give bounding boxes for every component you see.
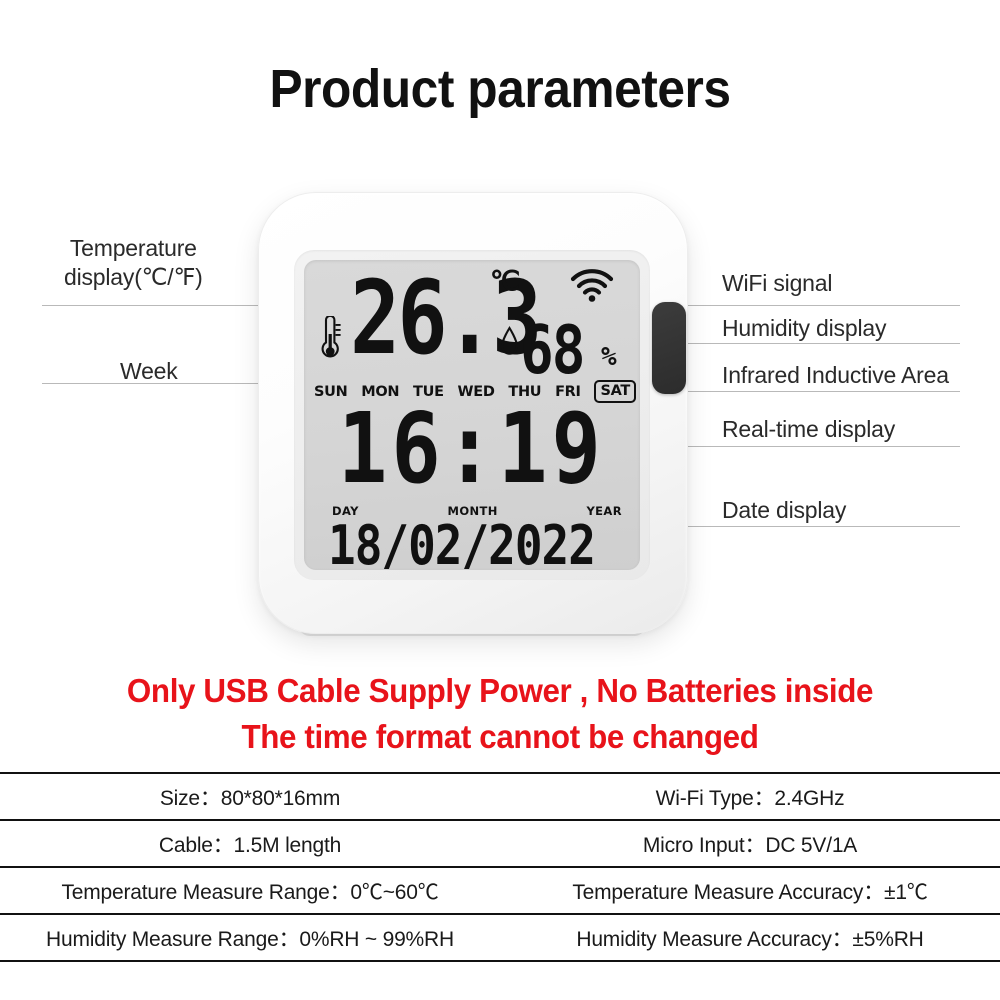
- warning-line-1: Only USB Cable Supply Power , No Batteri…: [25, 672, 975, 710]
- callout-wifi-signal: WiFi signal: [722, 270, 832, 297]
- spec-temperature-range: Temperature Measure Range：0℃~60℃: [0, 868, 500, 913]
- wifi-icon: [570, 268, 614, 302]
- lcd-screen: 26.3 ℃ 68 % SUN MON TUE WED THU FRI SAT …: [304, 260, 640, 570]
- warning-line-2: The time format cannot be changed: [25, 718, 975, 756]
- spec-table: Size：80*80*16mm Wi-Fi Type：2.4GHz Cable：…: [0, 772, 1000, 962]
- callout-temperature-line2: display(℃/℉): [64, 263, 203, 292]
- thermometer-icon: [314, 316, 342, 362]
- leader-line-infrared: [670, 391, 960, 392]
- infrared-inductive-area[interactable]: [652, 302, 686, 394]
- callout-week: Week: [120, 358, 178, 385]
- humidity-value: 68: [520, 318, 583, 385]
- time-value: 16:19: [338, 402, 605, 499]
- spec-cable: Cable：1.5M length: [0, 821, 500, 866]
- callout-date-display: Date display: [722, 497, 846, 524]
- callout-temperature-line1: Temperature: [64, 234, 203, 263]
- table-row: Humidity Measure Range：0%RH ~ 99%RH Humi…: [0, 915, 1000, 962]
- water-drop-icon: [500, 326, 519, 356]
- table-row: Size：80*80*16mm Wi-Fi Type：2.4GHz: [0, 774, 1000, 821]
- callout-infrared-inductive-area: Infrared Inductive Area: [722, 362, 949, 389]
- spec-humidity-range: Humidity Measure Range：0%RH ~ 99%RH: [0, 915, 500, 960]
- spec-size: Size：80*80*16mm: [0, 774, 500, 819]
- callout-temperature-display: Temperature display(℃/℉): [64, 234, 203, 293]
- page-title: Product parameters: [40, 58, 960, 120]
- humidity-unit: %: [601, 342, 617, 372]
- table-row: Temperature Measure Range：0℃~60℃ Tempera…: [0, 868, 1000, 915]
- temperature-unit: ℃: [490, 266, 520, 297]
- spec-humidity-accuracy: Humidity Measure Accuracy：±5%RH: [500, 915, 1000, 960]
- spec-wifi-type: Wi-Fi Type：2.4GHz: [500, 774, 1000, 819]
- callout-real-time-display: Real-time display: [722, 416, 895, 443]
- table-row: Cable：1.5M length Micro Input：DC 5V/1A: [0, 821, 1000, 868]
- device-illustration: 26.3 ℃ 68 % SUN MON TUE WED THU FRI SAT …: [258, 192, 686, 640]
- date-value: 18/02/2022: [328, 518, 595, 570]
- spec-micro-input: Micro Input：DC 5V/1A: [500, 821, 1000, 866]
- spec-temperature-accuracy: Temperature Measure Accuracy：±1℃: [500, 868, 1000, 913]
- callout-humidity-display: Humidity display: [722, 315, 886, 342]
